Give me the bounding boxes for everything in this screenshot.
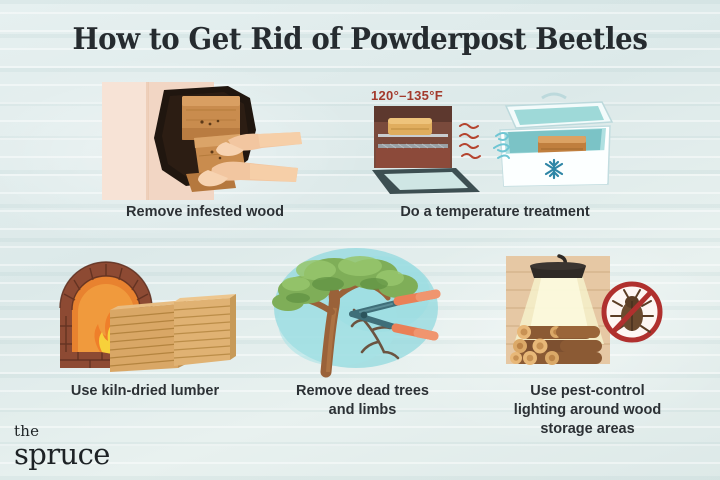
caption-kiln-dried-lumber: Use kiln-dried lumber (20, 382, 270, 401)
caption-remove-dead-trees: Remove dead trees and limbs (265, 382, 460, 420)
caption-pest-control-lighting: Use pest-control lighting around wood st… (480, 382, 695, 439)
illustration-oven (372, 104, 482, 196)
caption-line-2: lighting around wood (480, 401, 695, 420)
caption-line-3: storage areas (480, 420, 695, 439)
caption-line-2: and limbs (265, 401, 460, 420)
caption-temperature-treatment: Do a temperature treatment (355, 203, 635, 222)
caption-remove-infested-wood: Remove infested wood (60, 203, 350, 222)
illustration-pest-control-lighting (496, 252, 666, 374)
illustration-remove-infested-wood (100, 82, 305, 200)
brand-logo-line-spruce: spruce (14, 440, 110, 469)
caption-line-1: Use pest-control (480, 382, 695, 401)
illustration-tree-loppers (268, 244, 453, 374)
brand-logo: the spruce (14, 424, 110, 469)
illustration-kiln-lumber (44, 256, 244, 374)
illustration-chest-freezer (494, 92, 616, 192)
caption-line-1: Remove dead trees (265, 382, 460, 401)
temperature-label: 120°–135°F (371, 88, 443, 103)
page-title: How to Get Rid of Powderpost Beetles (29, 22, 691, 57)
